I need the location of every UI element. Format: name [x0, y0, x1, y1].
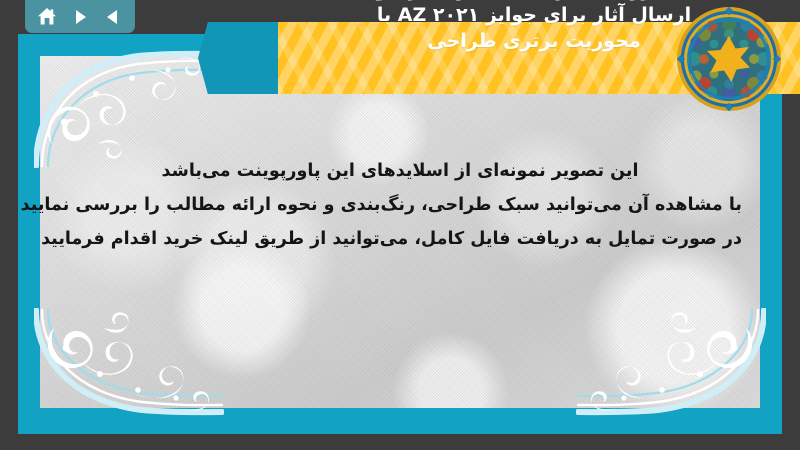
- triangle-left-icon: [104, 8, 122, 26]
- slide-viewer: این تصویر نمونه‌ای از اسلایدهای این پاور…: [0, 0, 800, 450]
- home-button[interactable]: [34, 4, 60, 30]
- body-line-1: این تصویر نمونه‌ای از اسلایدهای این پاور…: [58, 154, 742, 188]
- persian-mandala-medallion: [676, 6, 782, 112]
- slide-body-text: این تصویر نمونه‌ای از اسلایدهای این پاور…: [58, 154, 742, 256]
- next-slide-button[interactable]: [67, 4, 93, 30]
- body-line-3: در صورت تمایل به دریافت فایل کامل، می‌تو…: [58, 222, 742, 256]
- triangle-right-icon: [71, 8, 89, 26]
- previous-slide-button[interactable]: [100, 4, 126, 30]
- slide-navigation-bar[interactable]: [25, 0, 135, 33]
- body-line-2: با مشاهده آن می‌توانید سبک طراحی، رنگ‌بن…: [58, 188, 742, 222]
- banner-arrow-shape: [198, 22, 280, 94]
- home-icon: [37, 7, 57, 26]
